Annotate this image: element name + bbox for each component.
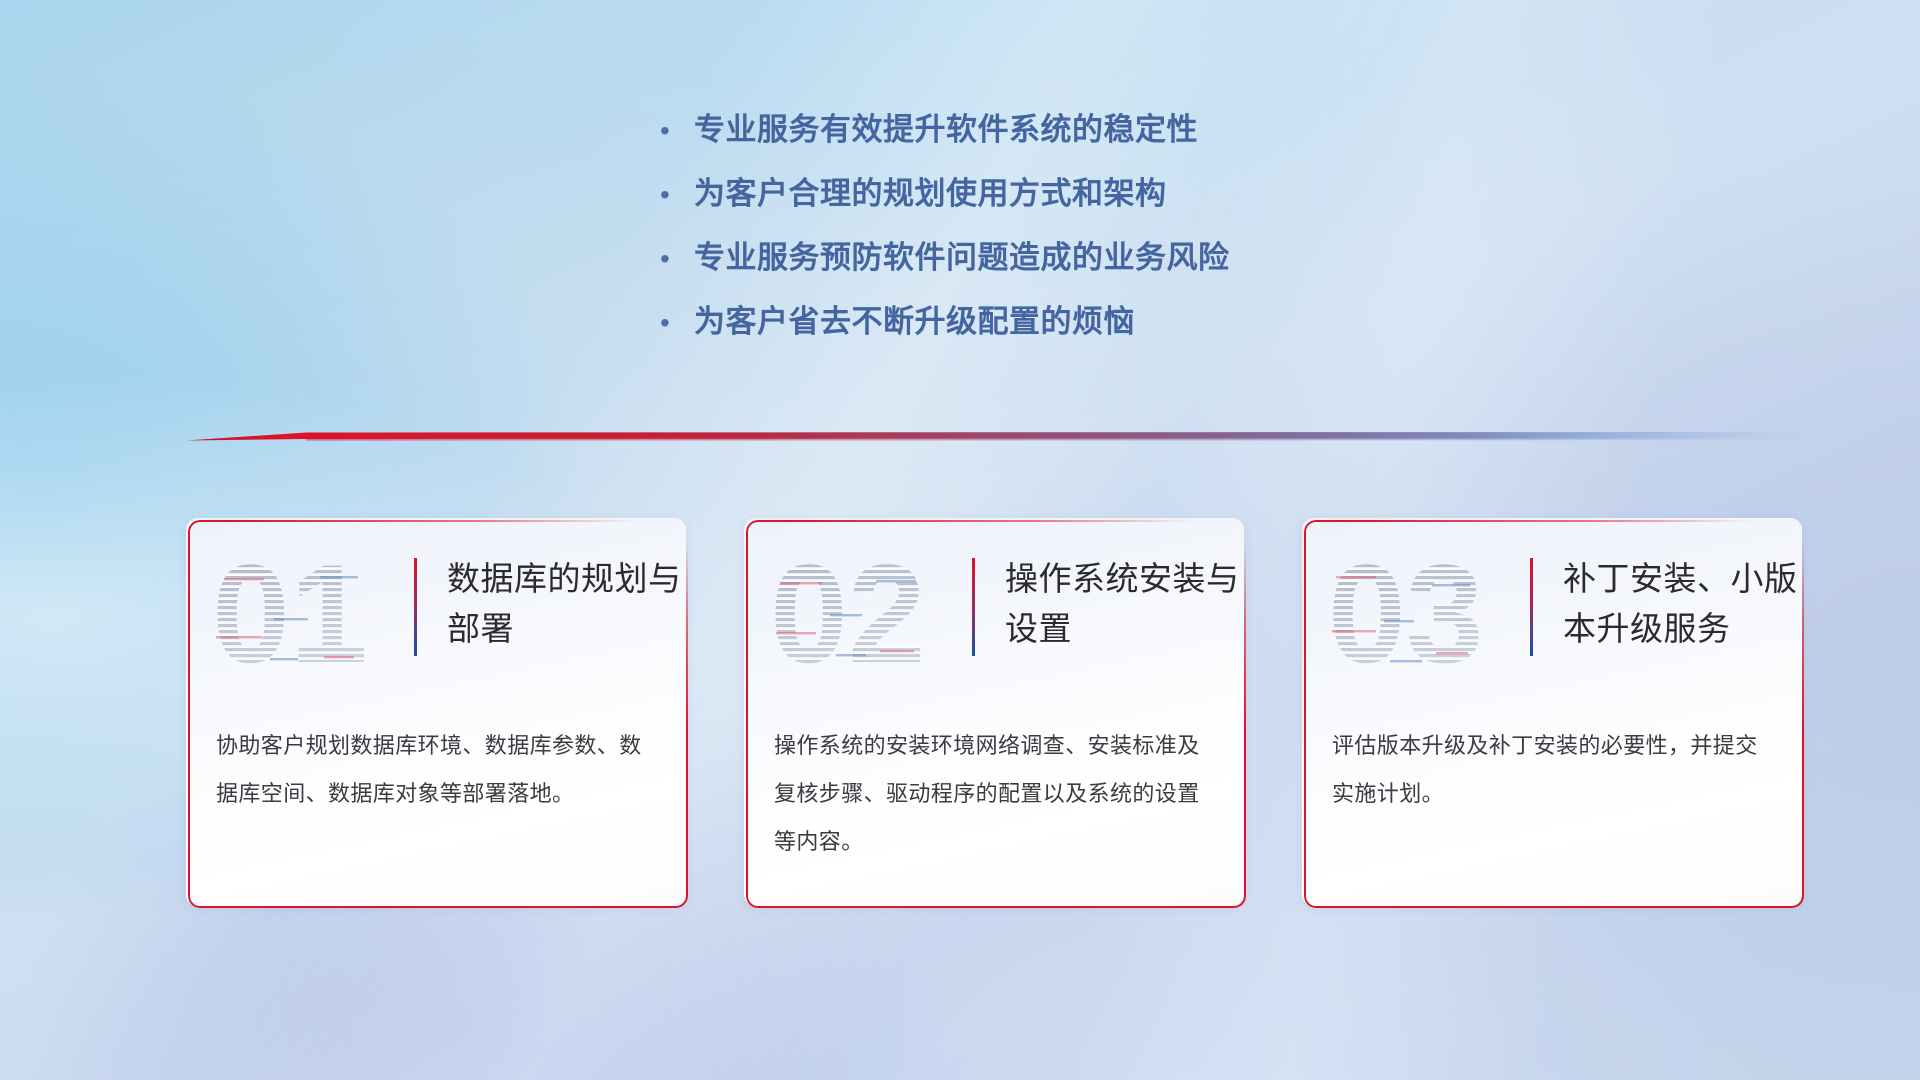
- card-description: 评估版本升级及补丁安装的必要性，并提交实施计划。: [1332, 722, 1778, 818]
- card-number-text: 01: [212, 540, 368, 690]
- benefits-bullet-list: • 专业服务有效提升软件系统的稳定性 • 为客户合理的规划使用方式和架构 • 专…: [660, 104, 1230, 360]
- divider-svg: [186, 424, 1806, 450]
- card-surface: 02 操作系统安装与设置: [744, 518, 1244, 906]
- card-title: 数据库的规划与部署: [447, 554, 686, 654]
- service-card[interactable]: 01 数据库的规划与部署: [186, 518, 686, 906]
- list-item: • 为客户合理的规划使用方式和架构: [660, 168, 1230, 232]
- striped-number-svg: 03: [1328, 540, 1518, 690]
- card-number-graphic: 01: [212, 540, 402, 690]
- striped-number-svg: 02: [770, 540, 960, 690]
- service-card[interactable]: 02 操作系统安装与设置: [744, 518, 1244, 906]
- card-description: 协助客户规划数据库环境、数据库参数、数据库空间、数据库对象等部署落地。: [216, 722, 662, 818]
- card-header: 补丁安装、小版本升级服务: [1530, 554, 1802, 656]
- bullet-text: 专业服务有效提升软件系统的稳定性: [694, 104, 1198, 149]
- list-item: • 为客户省去不断升级配置的烦恼: [660, 296, 1230, 360]
- slide-canvas: • 专业服务有效提升软件系统的稳定性 • 为客户合理的规划使用方式和架构 • 专…: [0, 0, 1920, 1080]
- tapered-accent-divider: [186, 424, 1806, 450]
- list-item: • 专业服务预防软件问题造成的业务风险: [660, 232, 1230, 296]
- bullet-dot-icon: •: [660, 181, 694, 209]
- bullet-text: 为客户合理的规划使用方式和架构: [694, 168, 1167, 213]
- card-title: 补丁安装、小版本升级服务: [1563, 554, 1802, 654]
- card-number-graphic: 03: [1328, 540, 1518, 690]
- card-number-graphic: 02: [770, 540, 960, 690]
- card-description: 操作系统的安装环境网络调查、安装标准及复核步骤、驱动程序的配置以及系统的设置等内…: [774, 722, 1220, 866]
- card-number-text: 03: [1328, 540, 1484, 690]
- card-surface: 01 数据库的规划与部署: [186, 518, 686, 906]
- card-title: 操作系统安装与设置: [1005, 554, 1244, 654]
- bullet-text: 为客户省去不断升级配置的烦恼: [694, 296, 1135, 341]
- card-surface: 03 补丁安装、小版本升级服务: [1302, 518, 1802, 906]
- card-header: 数据库的规划与部署: [414, 554, 686, 656]
- card-header: 操作系统安装与设置: [972, 554, 1244, 656]
- bullet-dot-icon: •: [660, 309, 694, 337]
- service-card[interactable]: 03 补丁安装、小版本升级服务: [1302, 518, 1802, 906]
- bullet-text: 专业服务预防软件问题造成的业务风险: [694, 232, 1230, 277]
- bullet-dot-icon: •: [660, 245, 694, 273]
- list-item: • 专业服务有效提升软件系统的稳定性: [660, 104, 1230, 168]
- bullet-dot-icon: •: [660, 117, 694, 145]
- title-accent-rule: [972, 558, 975, 656]
- striped-number-svg: 01: [212, 540, 402, 690]
- title-accent-rule: [1530, 558, 1533, 656]
- title-accent-rule: [414, 558, 417, 656]
- service-cards: 01 数据库的规划与部署: [186, 518, 1806, 906]
